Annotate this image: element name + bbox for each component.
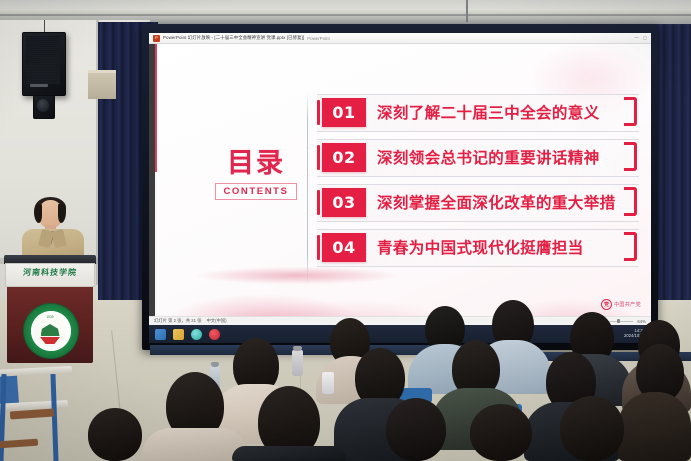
vignette-overlay: [0, 0, 691, 461]
lecture-hall-photo: P PowerPoint 幻灯片放映 - [二十届三中全会精神宣讲 党课.ppt…: [0, 0, 691, 461]
